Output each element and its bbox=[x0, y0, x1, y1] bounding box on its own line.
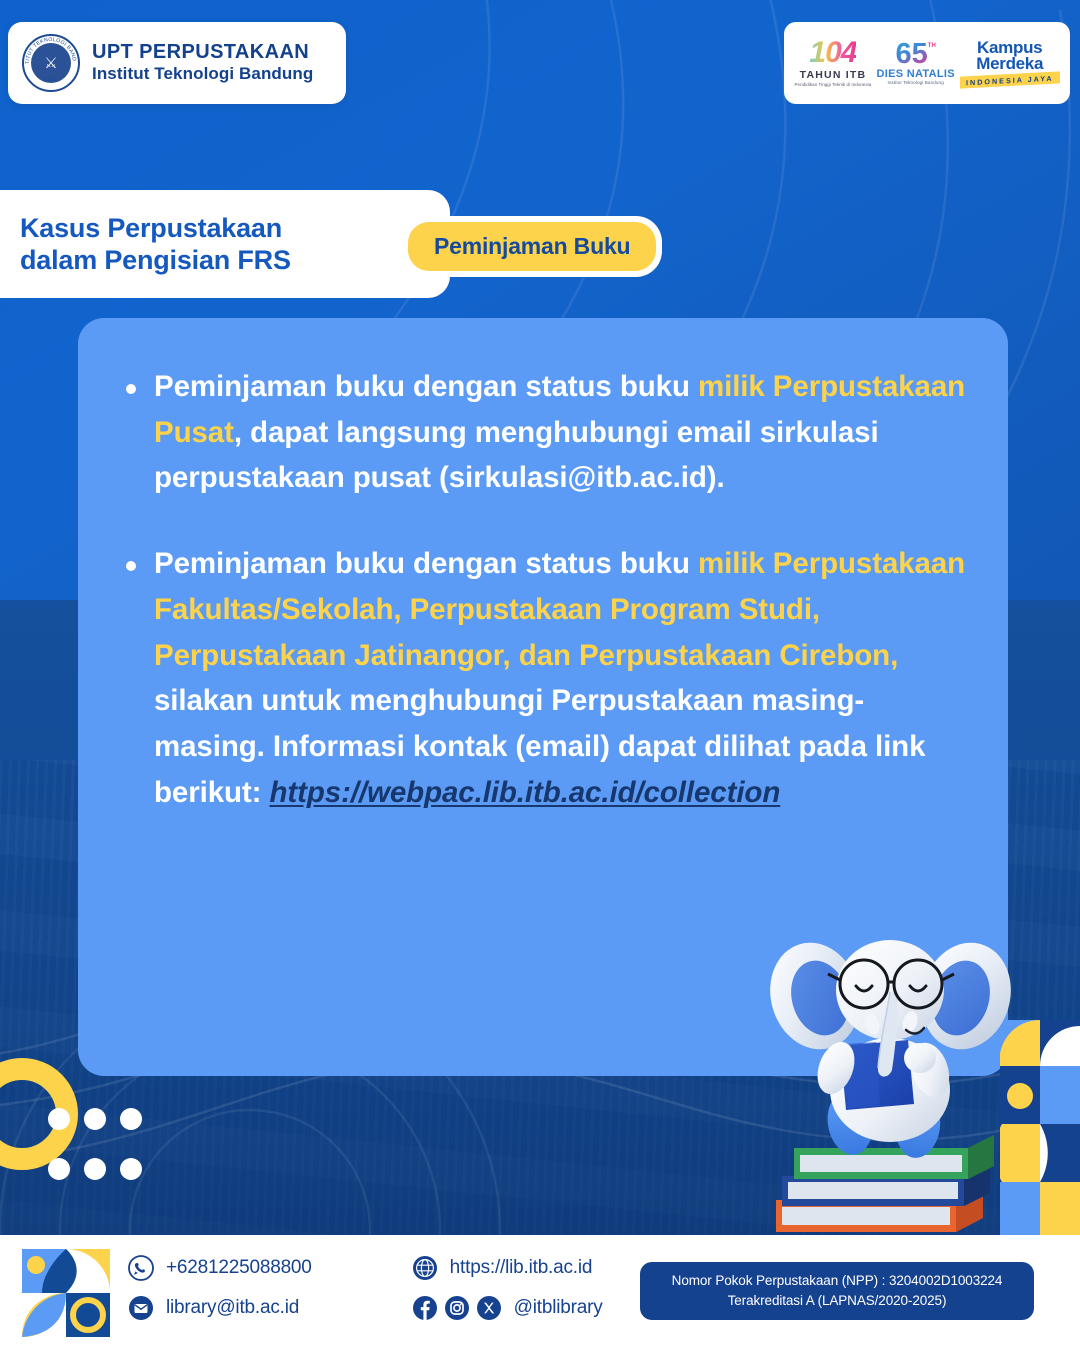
logo-dies-natalis: 65 TH DIES NATALIS Institut Teknologi Ba… bbox=[876, 41, 954, 86]
book-stack bbox=[776, 1135, 994, 1232]
anniversary-label: TAHUN ITB bbox=[800, 69, 867, 81]
dies-superscript: TH bbox=[928, 43, 936, 49]
logo-104-tahun-itb: 104 TAHUN ITB Pendidikan Tinggi Teknik d… bbox=[795, 39, 872, 87]
globe-icon bbox=[412, 1255, 438, 1281]
header-logo-card: ⚔ INSTITUT TEKNOLOGI BANDUNG · 1920 · UP… bbox=[8, 22, 346, 104]
contact-website[interactable]: https://lib.itb.ac.id bbox=[412, 1255, 603, 1281]
page-title-line2: dalam Pengisian FRS bbox=[20, 244, 291, 276]
whatsapp-icon bbox=[128, 1255, 154, 1281]
bullet-dot-icon bbox=[126, 384, 136, 394]
bullet-1-part2: , dapat langsung menghubungi email sirku… bbox=[154, 416, 879, 495]
topic-badge: Peminjaman Buku bbox=[408, 222, 656, 271]
topic-badge-frame: Peminjaman Buku bbox=[402, 216, 662, 277]
decorative-dot bbox=[120, 1108, 142, 1130]
kampus-merdeka-line2: Merdeka bbox=[976, 56, 1043, 72]
contact-social[interactable]: @itblibrary bbox=[412, 1295, 603, 1321]
bullet-dot-icon bbox=[126, 561, 136, 571]
svg-text:· 1920 ·: · 1920 · bbox=[40, 75, 61, 83]
elephant-mascot-illustration bbox=[768, 918, 1023, 1248]
page-title-line1: Kasus Perpustakaan bbox=[20, 212, 291, 244]
bullet-2-text: Peminjaman buku dengan status buku milik… bbox=[154, 541, 968, 815]
decorative-dot bbox=[48, 1108, 70, 1130]
institution-name-secondary: Institut Teknologi Bandung bbox=[92, 64, 313, 84]
website-url: https://lib.itb.ac.id bbox=[450, 1257, 593, 1279]
twitter-x-icon[interactable] bbox=[476, 1295, 502, 1321]
library-pattern-logo bbox=[22, 1249, 110, 1337]
footer-contact-columns: +6281225088800 library@itb.ac.id bbox=[128, 1255, 603, 1321]
npp-number: Nomor Pokok Perpustakaan (NPP) : 3204002… bbox=[672, 1271, 1003, 1291]
itb-seal-icon: ⚔ INSTITUT TEKNOLOGI BANDUNG · 1920 · bbox=[22, 34, 80, 92]
phone-number: +6281225088800 bbox=[166, 1257, 312, 1279]
contact-email[interactable]: library@itb.ac.id bbox=[128, 1295, 312, 1321]
bullet-2-part1: Peminjaman buku dengan status buku bbox=[154, 547, 698, 580]
header-partner-logos: 104 TAHUN ITB Pendidikan Tinggi Teknik d… bbox=[784, 22, 1070, 104]
contact-phone[interactable]: +6281225088800 bbox=[128, 1255, 312, 1281]
facebook-icon[interactable] bbox=[412, 1295, 438, 1321]
footer-column-left: +6281225088800 library@itb.ac.id bbox=[128, 1255, 312, 1321]
page-title: Kasus Perpustakaan dalam Pengisian FRS bbox=[20, 212, 291, 277]
social-icon-group bbox=[412, 1295, 502, 1321]
dies-sublabel: Institut Teknologi Bandung bbox=[887, 80, 943, 85]
bullet-1-part1: Peminjaman buku dengan status buku bbox=[154, 370, 698, 403]
list-item: Peminjaman buku dengan status buku milik… bbox=[126, 541, 968, 815]
email-address: library@itb.ac.id bbox=[166, 1297, 299, 1319]
decorative-dot-grid bbox=[48, 1108, 156, 1208]
anniversary-sublabel: Pendidikan Tinggi Teknik di Indonesia bbox=[795, 82, 872, 87]
list-item: Peminjaman buku dengan status buku milik… bbox=[126, 364, 968, 501]
accreditation-badge: Nomor Pokok Perpustakaan (NPP) : 3204002… bbox=[640, 1262, 1034, 1320]
dies-number: 65 bbox=[896, 41, 928, 69]
email-icon bbox=[128, 1295, 154, 1321]
bullet-list: Peminjaman buku dengan status buku milik… bbox=[78, 318, 1008, 815]
svg-text:INSTITUT TEKNOLOGI BANDUNG: INSTITUT TEKNOLOGI BANDUNG bbox=[22, 34, 77, 64]
seal-year-text: · 1920 · bbox=[40, 75, 61, 83]
dies-label: DIES NATALIS bbox=[876, 68, 954, 80]
institution-name-primary: UPT PERPUSTAKAAN bbox=[92, 41, 313, 64]
decorative-dot bbox=[84, 1158, 106, 1180]
footer-column-right: https://lib.itb.ac.id bbox=[412, 1255, 603, 1321]
decorative-dot bbox=[120, 1158, 142, 1180]
page-title-card: Kasus Perpustakaan dalam Pengisian FRS bbox=[0, 190, 450, 298]
decorative-dot bbox=[84, 1108, 106, 1130]
collection-link[interactable]: https://webpac.lib.itb.ac.id/collection bbox=[269, 776, 780, 809]
logo-kampus-merdeka: Kampus Merdeka INDONESIA JAYA bbox=[960, 40, 1060, 85]
kampus-merdeka-band: INDONESIA JAYA bbox=[960, 71, 1060, 88]
instagram-icon[interactable] bbox=[444, 1295, 470, 1321]
bullet-1-text: Peminjaman buku dengan status buku milik… bbox=[154, 364, 968, 501]
social-handle: @itblibrary bbox=[514, 1297, 603, 1319]
decorative-dot bbox=[48, 1158, 70, 1180]
accreditation-status: Terakreditasi A (LAPNAS/2020-2025) bbox=[728, 1291, 947, 1311]
anniversary-number: 104 bbox=[809, 39, 856, 68]
